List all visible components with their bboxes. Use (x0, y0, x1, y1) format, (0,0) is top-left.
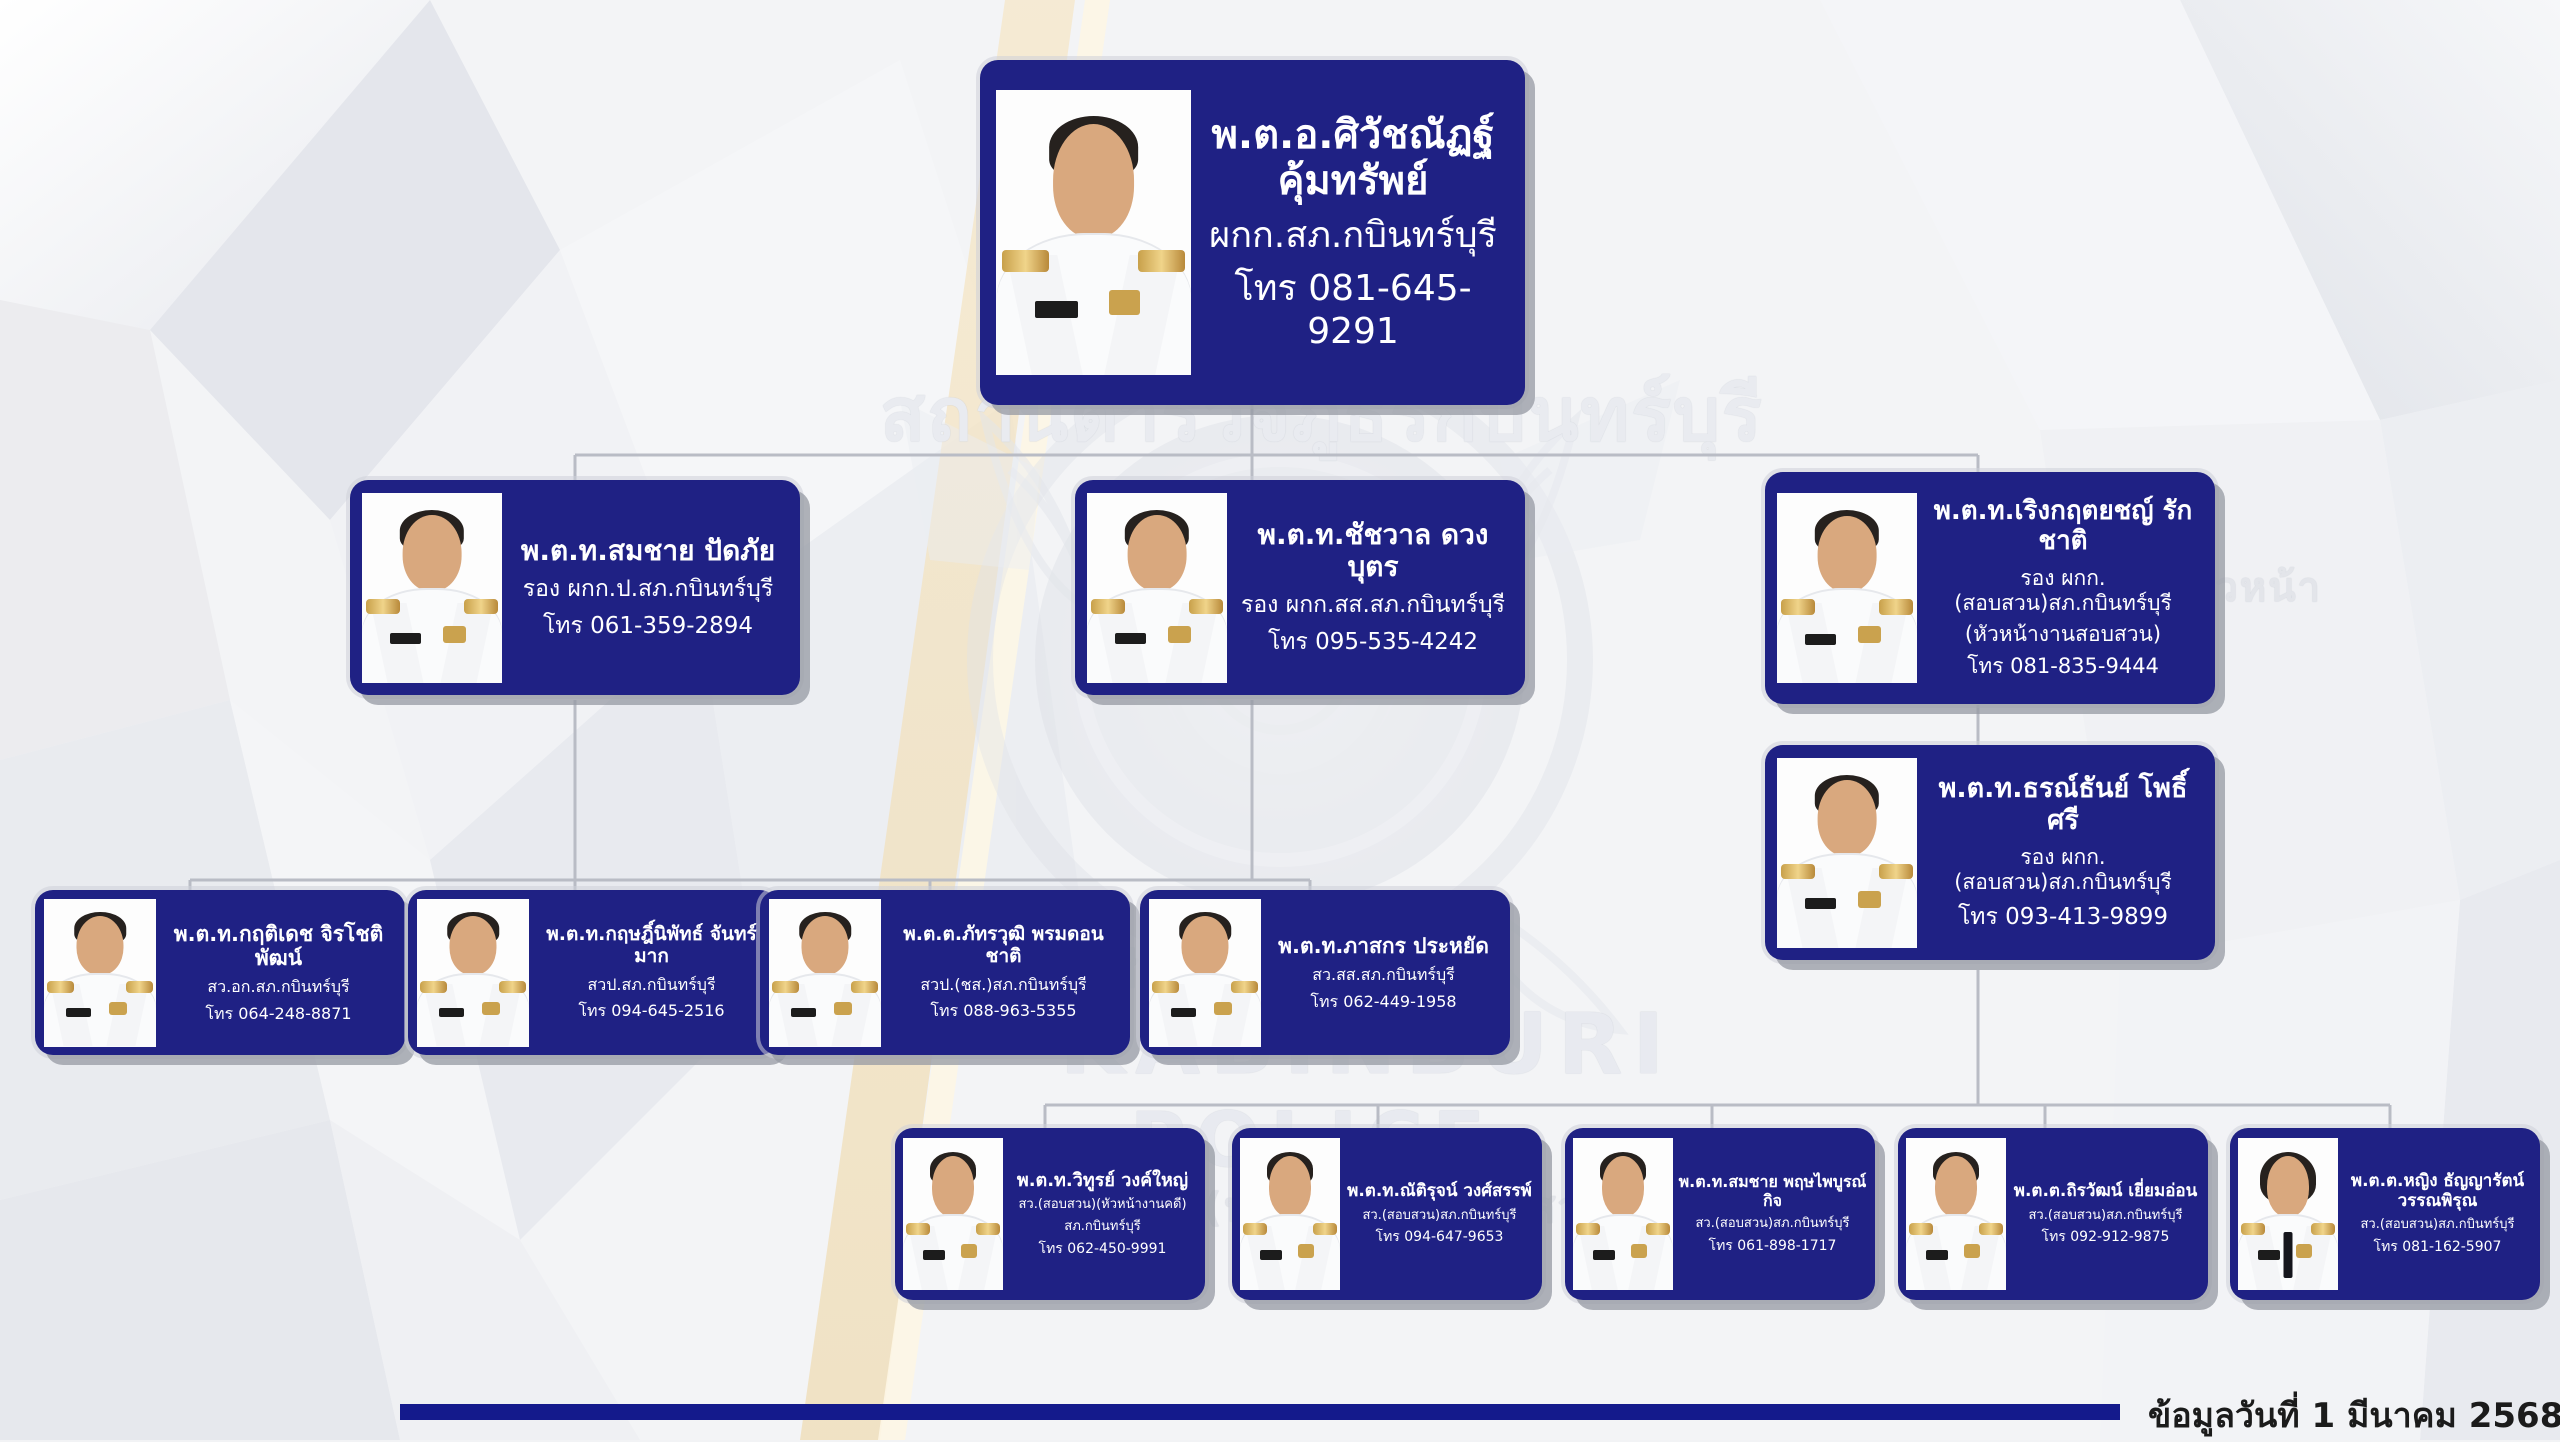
officer-name: พ.ต.ท.เริงกฤตยชญ์ รักชาติ (1923, 497, 2203, 557)
officer-phone: โทร 094-645-2516 (578, 1001, 724, 1020)
officer-name: พ.ต.ต.หญิง ธัญญารัตน์ วรรณพิรุณ (2343, 1172, 2532, 1211)
officer-phone: โทร 062-450-9991 (1039, 1241, 1167, 1258)
officer-name: พ.ต.ต.ถิรวัฒน์ เยี่ยมอ่อน (2014, 1182, 2198, 1202)
officer-name: พ.ต.ท.สมชาย ปัดภัย (521, 535, 775, 567)
avatar (417, 899, 529, 1047)
org-card-deputy-prevention[interactable]: พ.ต.ท.สมชาย ปัดภัย รอง ผกก.ป.สภ.กบินทร์บ… (350, 480, 800, 695)
officer-position: สวป.สภ.กบินทร์บุรี (587, 975, 715, 994)
avatar (1777, 758, 1917, 948)
officer-position: รอง ผกก.สส.สภ.กบินทร์บุรี (1241, 592, 1505, 620)
avatar (44, 899, 156, 1047)
officer-phone: โทร 061-359-2894 (543, 613, 753, 641)
org-card-patrol-ch-officer[interactable]: พ.ต.ต.ภัทรวุฒิ พรมดอนชาติ สวป.(ชส.)สภ.กบ… (760, 890, 1130, 1055)
footer-bar (400, 1404, 2120, 1420)
org-card-inquiry-officer-3[interactable]: พ.ต.ต.ถิรวัฒน์ เยี่ยมอ่อน สว.(สอบสวน)สภ.… (1898, 1128, 2208, 1300)
officer-position-2: สภ.กบินทร์บุรี (1064, 1219, 1140, 1235)
officer-position: รอง ผกก.ป.สภ.กบินทร์บุรี (523, 576, 773, 604)
officer-phone: โทร 093-413-9899 (1958, 904, 2168, 932)
card-info: พ.ต.ท.วิทูรย์ วงค์ใหญ่ สว.(สอบสวน)(หัวหน… (1008, 1171, 1197, 1258)
org-card-inquiry-officer-4[interactable]: พ.ต.ต.หญิง ธัญญารัตน์ วรรณพิรุณ สว.(สอบส… (2230, 1128, 2540, 1300)
avatar (1777, 493, 1917, 683)
avatar (1906, 1138, 2006, 1290)
org-card-patrol-officer[interactable]: พ.ต.ท.กฤษฎิ์นิพัทธ์ จันทร์มาก สวป.สภ.กบิ… (408, 890, 778, 1055)
officer-position: สวป.(ชส.)สภ.กบินทร์บุรี (920, 975, 1086, 994)
org-card-deputy-inquiry[interactable]: พ.ต.ท.ธรณ์ธันย์ โพธิ์ศรี รอง ผกก.(สอบสวน… (1765, 745, 2215, 960)
officer-position: รอง ผกก.(สอบสวน)สภ.กบินทร์บุรี (1923, 566, 2203, 616)
card-info: พ.ต.ต.ภัทรวุฒิ พรมดอนชาติ สวป.(ชส.)สภ.กบ… (886, 924, 1121, 1020)
officer-phone: โทร 094-647-9653 (1376, 1229, 1504, 1246)
avatar (2238, 1138, 2338, 1290)
avatar (1149, 899, 1261, 1047)
card-info: พ.ต.ต.หญิง ธัญญารัตน์ วรรณพิรุณ สว.(สอบส… (2343, 1172, 2532, 1255)
card-info: พ.ต.ท.ณัติรุจน์ วงศ์สรรพ์ สว.(สอบสวน)สภ.… (1345, 1182, 1534, 1246)
avatar (903, 1138, 1003, 1290)
officer-position: รอง ผกก.(สอบสวน)สภ.กบินทร์บุรี (1923, 845, 2203, 895)
officer-position: ผกก.สภ.กบินทร์บุรี (1209, 214, 1497, 257)
card-info: พ.ต.ท.สมชาย ปัดภัย รอง ผกก.ป.สภ.กบินทร์บ… (508, 535, 788, 640)
officer-phone: โทร 095-535-4242 (1268, 629, 1478, 657)
officer-phone: โทร 081-645-9291 (1197, 267, 1509, 353)
officer-name: พ.ต.ท.ธรณ์ธันย์ โพธิ์ศรี (1923, 773, 2203, 835)
org-card-inquiry-officer-2[interactable]: พ.ต.ท.สมชาย พฤษไพบูรณ์กิจ สว.(สอบสวน)สภ.… (1565, 1128, 1875, 1300)
org-card-detective-officer[interactable]: พ.ต.ท.ภาสกร ประหยัด สว.สส.สภ.กบินทร์บุรี… (1140, 890, 1510, 1055)
officer-name: พ.ต.อ.ศิวัชณัฏฐ์ คุ้มทรัพย์ (1197, 112, 1509, 204)
card-info: พ.ต.ต.ถิรวัฒน์ เยี่ยมอ่อน สว.(สอบสวน)สภ.… (2011, 1182, 2200, 1246)
officer-name: พ.ต.ท.สมชาย พฤษไพบูรณ์กิจ (1678, 1173, 1867, 1210)
avatar (362, 493, 502, 683)
avatar (1573, 1138, 1673, 1290)
card-info: พ.ต.ท.ธรณ์ธันย์ โพธิ์ศรี รอง ผกก.(สอบสวน… (1923, 773, 2203, 931)
org-card-commander[interactable]: พ.ต.อ.ศิวัชณัฏฐ์ คุ้มทรัพย์ ผกก.สภ.กบินท… (980, 60, 1525, 405)
avatar (1240, 1138, 1340, 1290)
officer-phone: โทร 092-912-9875 (2042, 1229, 2170, 1246)
officer-position: สว.สส.สภ.กบินทร์บุรี (1312, 965, 1455, 984)
org-card-inquiry-case-head[interactable]: พ.ต.ท.วิทูรย์ วงค์ใหญ่ สว.(สอบสวน)(หัวหน… (895, 1128, 1205, 1300)
officer-name: พ.ต.ท.ณัติรุจน์ วงศ์สรรพ์ (1347, 1182, 1532, 1202)
org-card-deputy-investigation-ss[interactable]: พ.ต.ท.ชัชวาล ดวงบุตร รอง ผกก.สส.สภ.กบินท… (1075, 480, 1525, 695)
org-card-deputy-inquiry-head[interactable]: พ.ต.ท.เริงกฤตยชญ์ รักชาติ รอง ผกก.(สอบสว… (1765, 472, 2215, 704)
officer-name: พ.ต.ท.วิทูรย์ วงค์ใหญ่ (1017, 1171, 1188, 1192)
avatar (996, 90, 1191, 375)
card-info: พ.ต.ท.กฤติเดช จิรโชติพัฒน์ สว.อก.สภ.กบิน… (161, 922, 396, 1023)
officer-position: สว.(สอบสวน)สภ.กบินทร์บุรี (1362, 1208, 1516, 1224)
org-card-admin-officer[interactable]: พ.ต.ท.กฤติเดช จิรโชติพัฒน์ สว.อก.สภ.กบิน… (35, 890, 405, 1055)
card-info: พ.ต.ท.สมชาย พฤษไพบูรณ์กิจ สว.(สอบสวน)สภ.… (1678, 1173, 1867, 1254)
officer-position: สว.(สอบสวน)สภ.กบินทร์บุรี (2028, 1208, 2182, 1224)
officer-position: สว.(สอบสวน)(หัวหน้างานคดี) (1018, 1197, 1186, 1213)
officer-position: สว.(สอบสวน)สภ.กบินทร์บุรี (2360, 1217, 2514, 1233)
avatar (1087, 493, 1227, 683)
footer-date: ข้อมูลวันที่ 1 มีนาคม 2568 (2148, 1388, 2560, 1442)
officer-position: สว.(สอบสวน)สภ.กบินทร์บุรี (1695, 1216, 1849, 1232)
card-info: พ.ต.ท.ชัชวาล ดวงบุตร รอง ผกก.สส.สภ.กบินท… (1233, 519, 1513, 657)
officer-phone: โทร 062-449-1958 (1310, 992, 1456, 1011)
officer-phone: โทร 064-248-8871 (205, 1004, 351, 1023)
officer-phone: โทร 088-963-5355 (930, 1001, 1076, 1020)
officer-name: พ.ต.ท.กฤษฎิ์นิพัทธ์ จันทร์มาก (534, 924, 769, 968)
officer-position: สว.อก.สภ.กบินทร์บุรี (207, 977, 349, 996)
officer-name: พ.ต.ท.ภาสกร ประหยัด (1278, 934, 1489, 958)
card-info: พ.ต.อ.ศิวัชณัฏฐ์ คุ้มทรัพย์ ผกก.สภ.กบินท… (1197, 112, 1509, 354)
officer-phone: โทร 081-835-9444 (1967, 654, 2159, 679)
avatar (769, 899, 881, 1047)
card-info: พ.ต.ท.ภาสกร ประหยัด สว.สส.สภ.กบินทร์บุรี… (1266, 934, 1501, 1011)
org-card-inquiry-officer-1[interactable]: พ.ต.ท.ณัติรุจน์ วงศ์สรรพ์ สว.(สอบสวน)สภ.… (1232, 1128, 1542, 1300)
officer-phone: โทร 061-898-1717 (1709, 1238, 1837, 1255)
officer-position-2: (หัวหน้างานสอบสวน) (1965, 622, 2161, 647)
officer-name: พ.ต.ท.ชัชวาล ดวงบุตร (1233, 519, 1513, 583)
officer-name: พ.ต.ต.ภัทรวุฒิ พรมดอนชาติ (886, 924, 1121, 968)
card-info: พ.ต.ท.เริงกฤตยชญ์ รักชาติ รอง ผกก.(สอบสว… (1923, 497, 2203, 679)
card-info: พ.ต.ท.กฤษฎิ์นิพัทธ์ จันทร์มาก สวป.สภ.กบิ… (534, 924, 769, 1020)
officer-name: พ.ต.ท.กฤติเดช จิรโชติพัฒน์ (161, 922, 396, 970)
officer-phone: โทร 081-162-5907 (2374, 1239, 2502, 1256)
